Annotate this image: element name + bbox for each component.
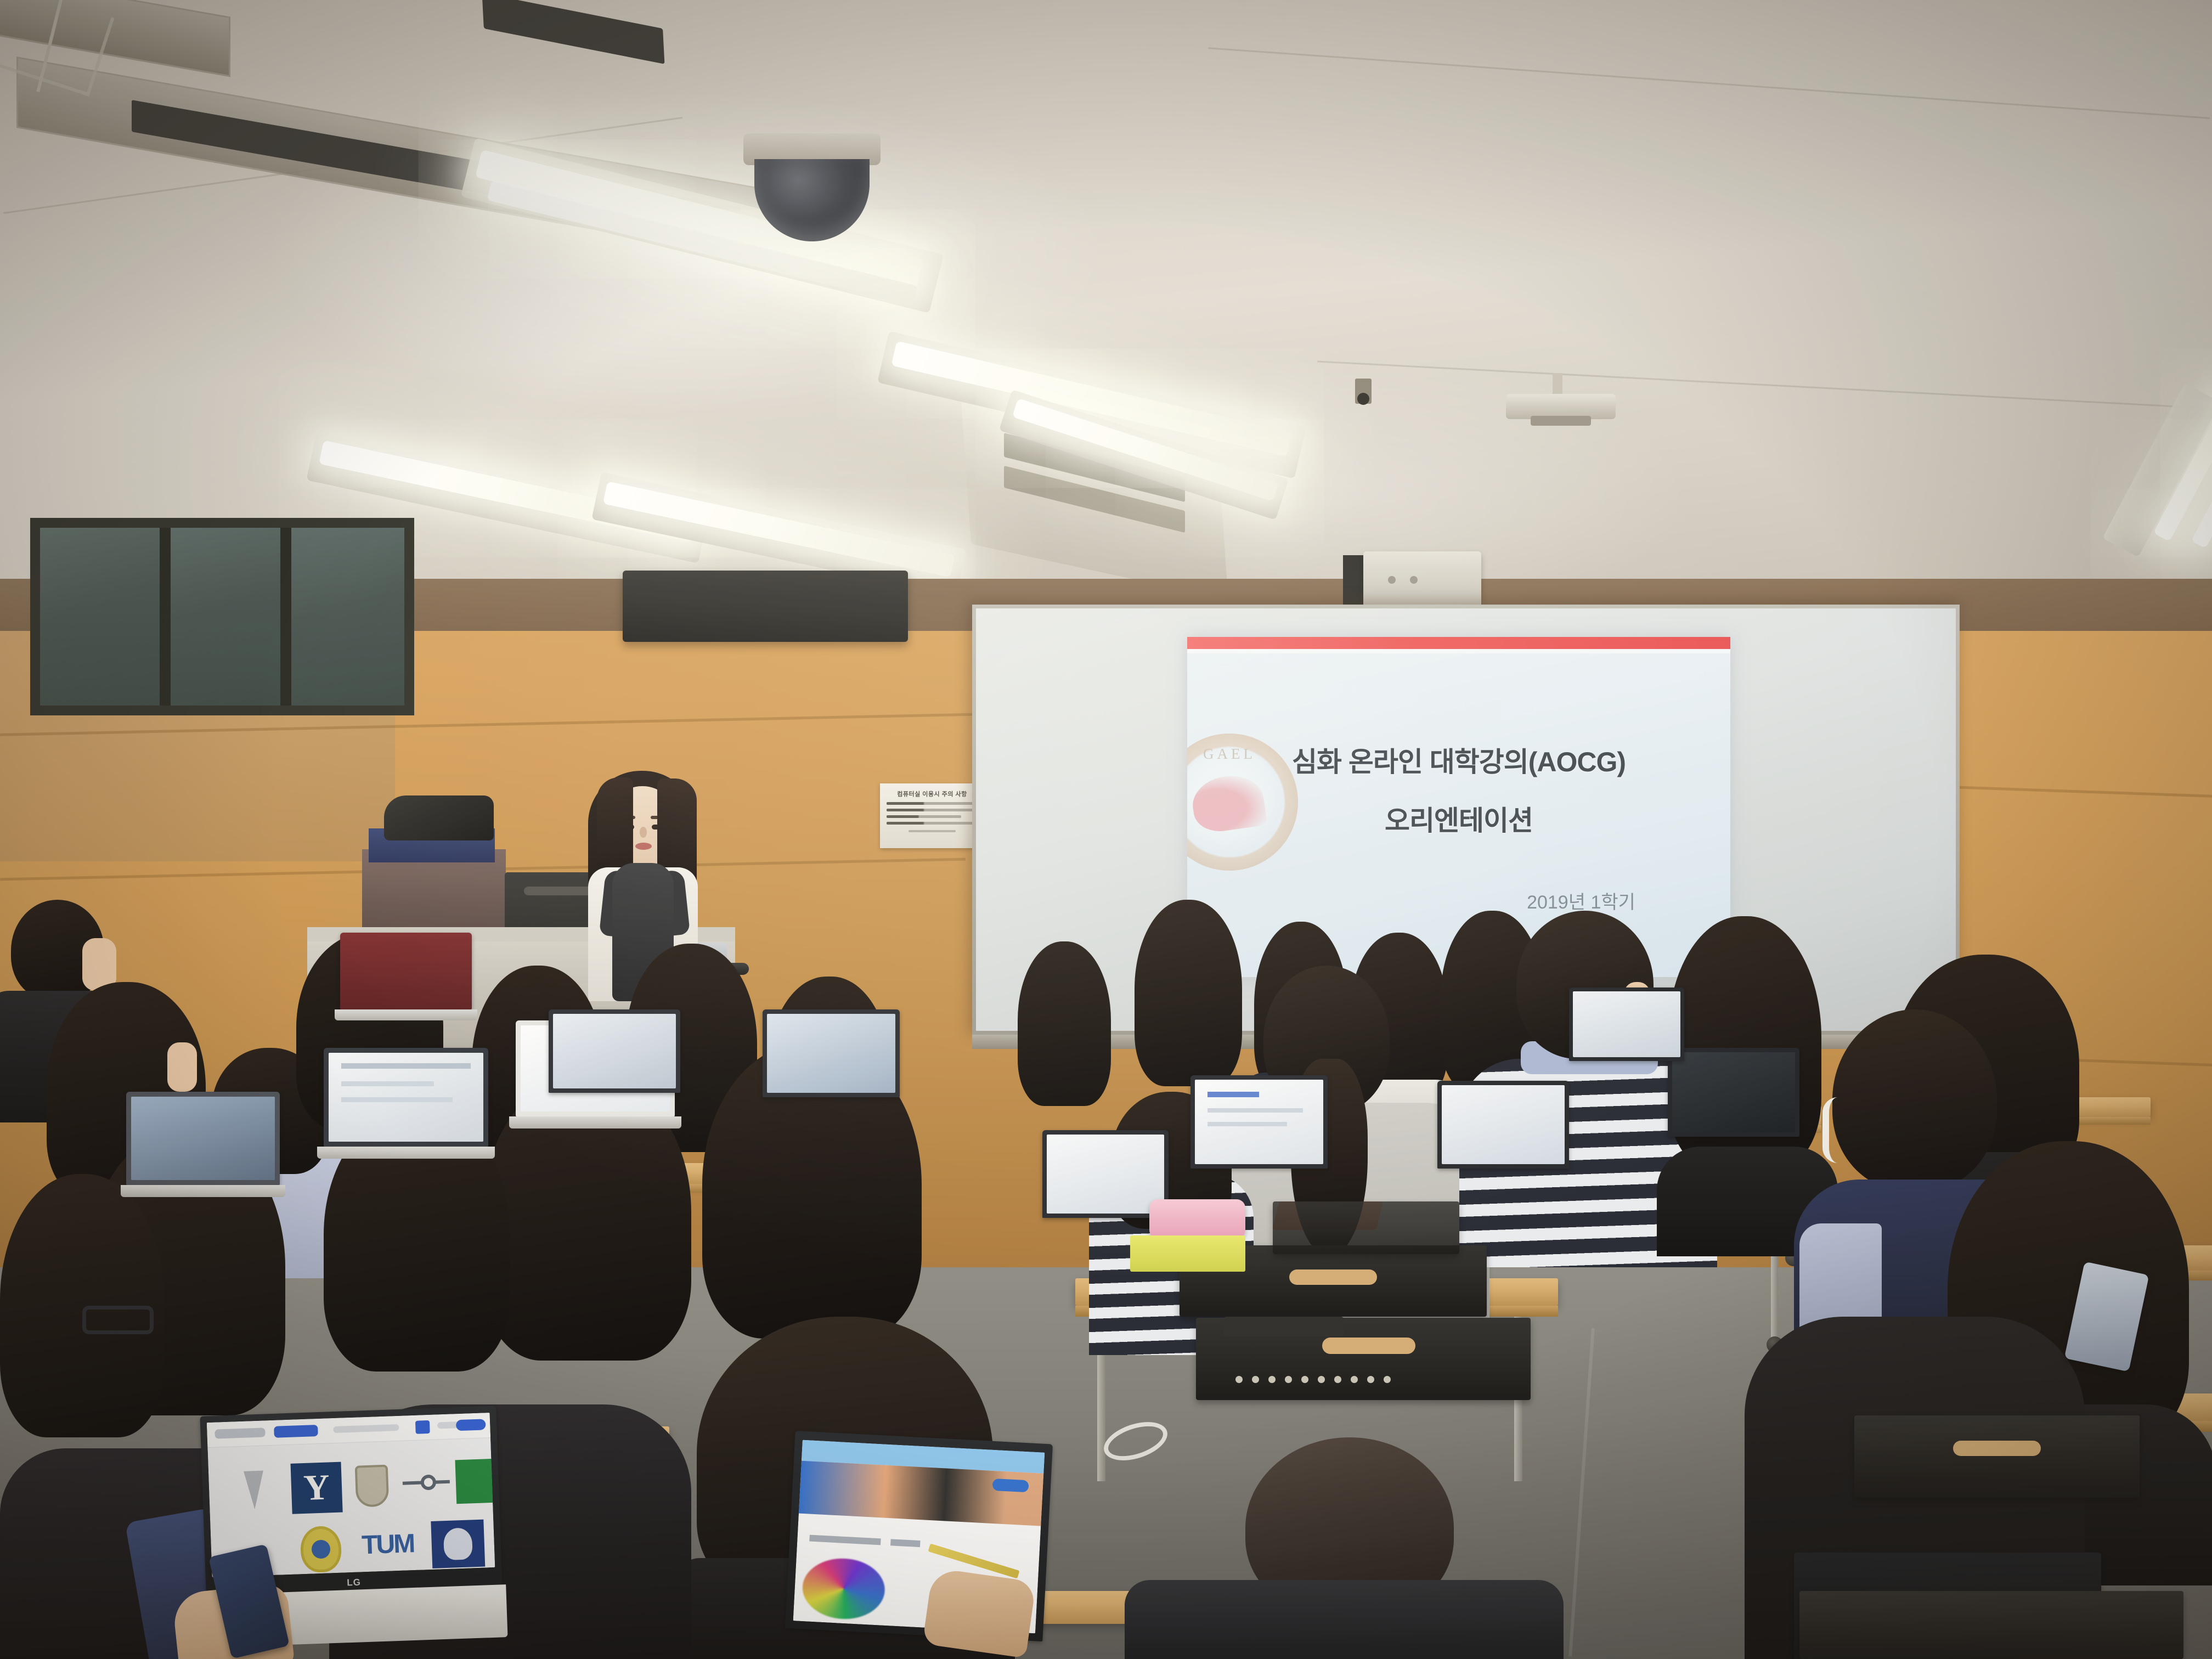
tum-logo-icon: TUM	[361, 1528, 414, 1560]
presenter-mouth	[635, 843, 652, 850]
projector-lens	[1531, 416, 1591, 426]
notice-title: 컴퓨터실 이용시 주의 사항	[887, 789, 978, 798]
laptop-screen[interactable]	[1672, 1052, 1795, 1132]
window	[30, 518, 414, 715]
eyeglasses-icon	[82, 1306, 154, 1334]
laptop-lid	[1668, 1048, 1799, 1137]
box-handle[interactable]	[1953, 1441, 2041, 1456]
notice-line	[887, 802, 973, 805]
laptop-base	[317, 1147, 495, 1159]
partner-logo-crest[interactable]	[294, 1522, 348, 1576]
window-pane	[40, 528, 160, 706]
slide-title-line-1: 심화 온라인 대학강의(AOCG)	[1187, 740, 1730, 780]
partner-logo-shield[interactable]	[346, 1459, 397, 1513]
laptop[interactable]	[1190, 1075, 1328, 1180]
crest-logo-icon	[300, 1526, 342, 1573]
student-hair	[1018, 941, 1111, 1106]
blue-logo-mark	[443, 1527, 473, 1560]
shield-logo-icon	[355, 1465, 390, 1508]
laptop-screen[interactable]	[131, 1097, 275, 1180]
projector-mount	[1553, 373, 1562, 395]
laptop-screen[interactable]	[553, 1014, 676, 1088]
toolbar-text	[215, 1427, 266, 1438]
page-subheading	[890, 1539, 921, 1547]
laptop-red[interactable]	[340, 933, 472, 1020]
laptop-screen[interactable]	[1047, 1135, 1164, 1214]
mouse-pad[interactable]	[1223, 1317, 1344, 1336]
laptop-lid	[1437, 1081, 1569, 1169]
page-graphic	[801, 1556, 887, 1621]
yale-logo-icon: Y	[291, 1462, 343, 1514]
window-pane	[291, 528, 404, 706]
partner-logo-blue[interactable]	[428, 1517, 487, 1571]
laptop[interactable]	[763, 1009, 900, 1108]
green-logo-icon	[455, 1458, 495, 1504]
laptop[interactable]	[1569, 988, 1684, 1070]
presenter-nose	[640, 827, 647, 838]
partner-logo-link[interactable]	[400, 1463, 452, 1503]
page-toolbar	[207, 1413, 490, 1448]
page-cta-button[interactable]	[992, 1479, 1029, 1492]
notice-line	[887, 815, 961, 818]
fire-sprinkler-icon	[1355, 379, 1372, 404]
window-mullion	[280, 528, 291, 706]
link-logo-icon	[403, 1480, 450, 1485]
toolbar-button[interactable]	[274, 1425, 318, 1438]
laptop[interactable]	[324, 1048, 488, 1158]
laptop-storage-box[interactable]	[1799, 1591, 2183, 1659]
laptop-screen[interactable]	[1195, 1080, 1323, 1164]
slide-accent-bar	[1187, 637, 1730, 649]
toolbar-icon[interactable]	[415, 1420, 430, 1434]
front-equipment-black-bag	[384, 795, 494, 840]
laptop-screen[interactable]	[329, 1053, 483, 1142]
speaker-port	[1388, 576, 1396, 584]
laptop[interactable]	[126, 1092, 280, 1196]
laptop[interactable]	[549, 1009, 680, 1103]
laptop-lid	[1190, 1075, 1328, 1169]
laptop-lid	[324, 1048, 488, 1147]
laptop-base	[335, 1009, 477, 1020]
classroom-photo: 컴퓨터실 이용시 주의 사항 GAEL 심화 온라인 대학강의(AOCG) 오리…	[0, 0, 2212, 1659]
laptop-base	[121, 1185, 285, 1197]
laptop-base	[509, 1116, 681, 1128]
slide-meta-semester: 2019년 1학기	[1527, 892, 1635, 913]
laptop-storage-box[interactable]	[1854, 1415, 2140, 1498]
crest-inner-icon	[311, 1539, 330, 1559]
laptop-storage-box[interactable]	[1273, 1201, 1459, 1254]
laptop[interactable]	[1668, 1048, 1799, 1147]
laptop[interactable]	[1437, 1081, 1569, 1180]
partner-logo-yale[interactable]: Y	[289, 1461, 343, 1515]
student-foreground	[1125, 1437, 1564, 1659]
speaker-port	[1410, 576, 1418, 584]
toolbar-text	[333, 1424, 399, 1433]
laptop-lid	[1569, 988, 1684, 1061]
laptop-lid	[340, 933, 472, 1009]
hand	[922, 1567, 1036, 1658]
notebook[interactable]	[1130, 1235, 1245, 1272]
window-mullion	[160, 528, 171, 706]
slide-title-line-2: 오리엔테이션	[1187, 799, 1730, 838]
box-handle[interactable]	[1322, 1338, 1415, 1354]
box-handle[interactable]	[1289, 1269, 1377, 1285]
pencil-case[interactable]	[1149, 1199, 1245, 1239]
partner-logo-green[interactable]	[455, 1456, 495, 1506]
laptop-screen[interactable]	[767, 1014, 895, 1093]
laptop-lid	[549, 1009, 680, 1093]
laptop-screen[interactable]	[1442, 1085, 1565, 1164]
laptop-screen[interactable]	[1573, 991, 1680, 1057]
window-pane	[171, 528, 280, 706]
eyeglasses-temple-icon	[1822, 1097, 1861, 1163]
partner-logo-tum[interactable]: TUM	[354, 1524, 421, 1565]
laptop-lid	[763, 1009, 900, 1097]
notice-line	[887, 822, 973, 825]
triangle-logo-icon	[232, 1470, 276, 1510]
box-vent-holes	[1235, 1376, 1391, 1383]
wall-speaker-left	[623, 571, 908, 642]
blue-logo-icon	[431, 1520, 485, 1568]
student-torso	[1125, 1580, 1564, 1659]
laptop-lid	[126, 1092, 280, 1185]
partner-logo-triangle[interactable]	[227, 1463, 281, 1517]
notice-footer	[909, 830, 956, 832]
student	[1012, 941, 1116, 1117]
toolbar-cta-button[interactable]	[456, 1419, 486, 1431]
student-face	[167, 1042, 197, 1092]
page-heading	[809, 1535, 881, 1545]
notice-line	[887, 809, 973, 811]
